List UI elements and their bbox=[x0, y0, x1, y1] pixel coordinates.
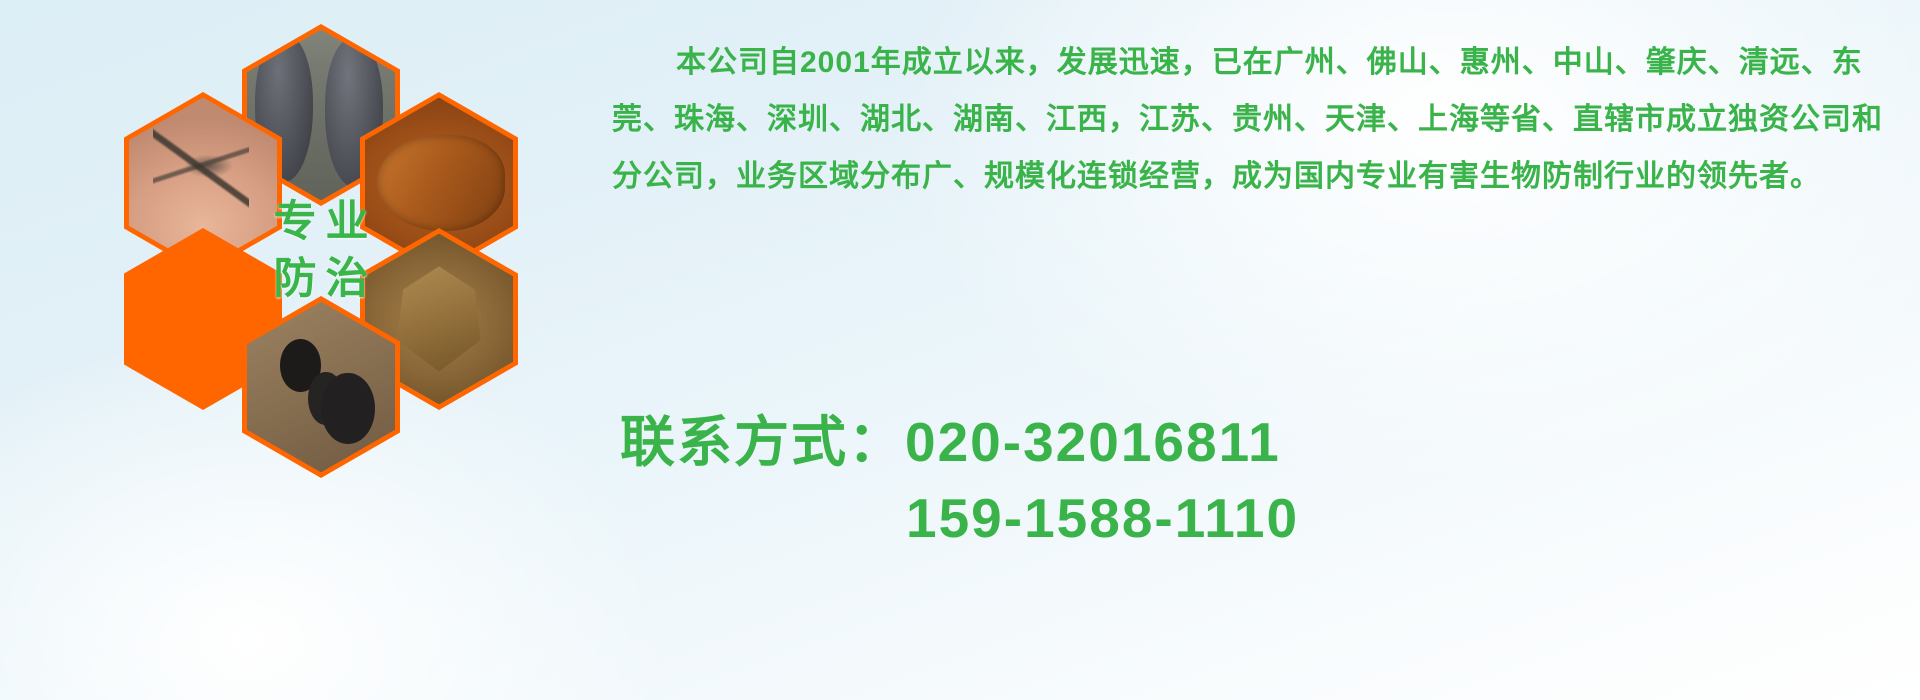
contact-primary-line[interactable]: 联系方式：020-32016811 bbox=[620, 404, 1910, 480]
about-copy-block: 本公司自2001年成立以来，发展迅速，已在广州、佛山、惠州、中山、肇庆、清远、东… bbox=[612, 34, 1904, 205]
brand-slogan-line2: 防治 bbox=[265, 258, 378, 301]
contact-secondary-line[interactable]: 159-1588-1110 bbox=[620, 480, 1910, 556]
brand-slogan-hexagon: 专业 防治 bbox=[242, 160, 400, 342]
promo-banner: 专业 防治 本公司自2001年成立以来，发展迅速，已在广州、佛山、惠州、中山、肇… bbox=[0, 0, 1920, 700]
hexagon-photo-collage: 专业 防治 bbox=[92, 8, 592, 568]
contact-block: 联系方式：020-32016811 159-1588-1110 bbox=[620, 404, 1910, 556]
about-paragraph: 本公司自2001年成立以来，发展迅速，已在广州、佛山、惠州、中山、肇庆、清远、东… bbox=[612, 34, 1904, 205]
brand-slogan-line1: 专业 bbox=[265, 201, 378, 244]
